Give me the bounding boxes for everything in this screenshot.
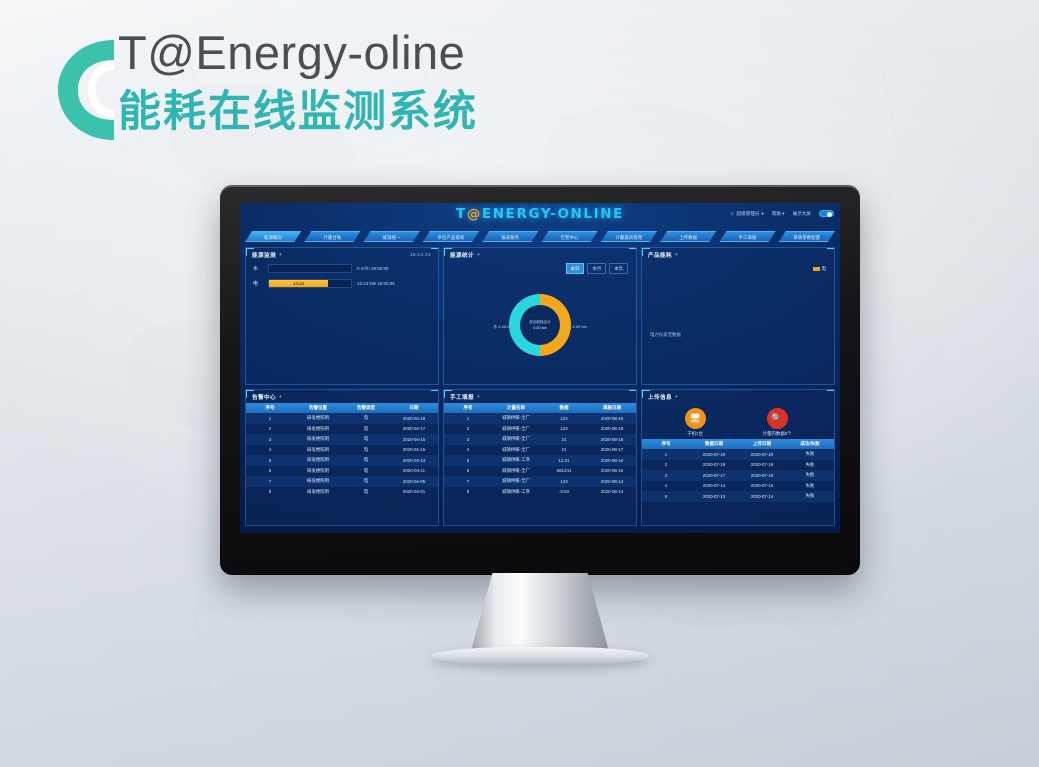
table-row[interactable]: 2研发楼照明电2020-04-17: [246, 424, 438, 435]
upload-stat-1[interactable]: 🔍计量内数据5个: [763, 408, 792, 437]
cell-2: 电: [342, 434, 390, 445]
cell-0: 6: [246, 466, 294, 477]
panel-title-text: 告警中心: [252, 393, 276, 401]
cell-0: 2: [444, 424, 492, 435]
nav-item-5[interactable]: 告警中心: [541, 231, 597, 242]
cell-3: 2020-08-18: [588, 434, 636, 445]
cell-2: 电: [342, 455, 390, 466]
cell-3: 2020-04-05: [390, 476, 438, 487]
cell-2: 21: [540, 434, 588, 445]
cell-0: 3: [642, 470, 690, 481]
cell-2: 电: [342, 424, 390, 435]
panel-title-text: 手工填报: [450, 393, 474, 401]
cell-2: 123: [540, 424, 588, 435]
column-header-2: 数据: [540, 403, 588, 413]
table-row[interactable]: 2城镇供暖-全厂1232020-08-18: [444, 424, 636, 435]
nav-item-0[interactable]: 能源概况: [245, 231, 301, 242]
cell-3: 失败: [786, 449, 834, 460]
cell-2: 电: [342, 487, 390, 498]
table-header-row: 序号数据日期上传日期成功/失败: [642, 439, 834, 449]
table-row[interactable]: 32020-07-172020-07-18失败: [642, 470, 834, 481]
panel-title-text: 产品能耗: [648, 251, 672, 259]
table-row[interactable]: 5研发楼照明电2020-04-14: [246, 455, 438, 466]
table-row[interactable]: 22020-07-182020-07-19失败: [642, 460, 834, 471]
cell-3: 2020-08-15: [588, 466, 636, 477]
nav-item-2[interactable]: 能源统一: [364, 231, 420, 242]
user-name: 超级管理员: [737, 211, 760, 217]
nav-item-1[interactable]: 计量台账: [304, 231, 360, 242]
cell-0: 1: [444, 413, 492, 424]
panel-alarm-center: 告警中心 + 序号告警位置告警类型日期 1研发楼照明电2020-04-182研发…: [245, 389, 439, 526]
cell-3: 失败: [786, 491, 834, 502]
page-title: T@Energy-oline: [118, 22, 478, 84]
dashboard-grid: 能源监测 + 18:14:23 水0 m³/h 18:00:00电13.2413…: [240, 242, 840, 531]
cell-2: 2020-07-15: [738, 481, 786, 492]
cell-0: 5: [444, 455, 492, 466]
dashboard-logo: T@ENERGY-ONLINE: [456, 206, 624, 222]
table-row[interactable]: 12020-07-192020-07-20失败: [642, 449, 834, 460]
expand-icon[interactable]: +: [477, 252, 480, 257]
column-header-3: 成功/失败: [786, 439, 834, 449]
cell-3: 2020-08-18: [588, 424, 636, 435]
cell-2: 电: [342, 413, 390, 424]
column-header-0: 序号: [642, 439, 690, 449]
metric-bar-track: [268, 264, 352, 273]
table-row[interactable]: 7研发楼照明电2020-04-05: [246, 476, 438, 487]
document-search-icon: 🔍: [767, 408, 788, 429]
cell-0: 7: [444, 476, 492, 487]
panel-energy-statistics: 能源统计 + 本日本月本年 水 0.00 tce 电 0.00 tce: [443, 247, 637, 385]
nav-item-4[interactable]: 报表服务: [482, 231, 538, 242]
cell-1: 研发楼照明: [294, 445, 342, 456]
cell-2: -0.53: [540, 487, 588, 498]
cell-2: 12.21: [540, 455, 588, 466]
cell-3: 2020-04-11: [390, 466, 438, 477]
column-header-1: 数据日期: [690, 439, 738, 449]
upload-table: 序号数据日期上传日期成功/失败 12020-07-192020-07-20失败2…: [642, 439, 834, 502]
column-header-2: 告警类型: [342, 403, 390, 413]
cell-1: 2020-07-17: [690, 470, 738, 481]
table-row[interactable]: 6城镇供暖-全厂5612412020-08-15: [444, 466, 636, 477]
cell-3: 失败: [786, 481, 834, 492]
expand-icon[interactable]: +: [675, 394, 678, 399]
metric-bar-fill: 13.24: [269, 280, 328, 287]
table-row[interactable]: 1研发楼照明电2020-04-18: [246, 413, 438, 424]
column-header-2: 上传日期: [738, 439, 786, 449]
realtime-row-0: 水0 m³/h 18:00:00: [246, 261, 438, 276]
cell-3: 2020-04-15: [390, 445, 438, 456]
cell-3: 2020-04-16: [390, 434, 438, 445]
panel-product-energy: 产品能耗 + 电 电力仪表无数据: [641, 247, 835, 385]
nav-item-8[interactable]: 手工填报: [719, 231, 775, 242]
cell-0: 7: [246, 476, 294, 487]
cell-3: 失败: [786, 470, 834, 481]
realtime-row-1: 电13.2413.24 kW 18:00:00: [246, 276, 438, 291]
expand-icon[interactable]: +: [279, 394, 282, 399]
bigscreen-toggle-label: 展示大屏: [793, 211, 811, 217]
table-row[interactable]: 5城镇供暖-工序12.212020-08-15: [444, 455, 636, 466]
upload-stat-caption: 干机1台: [685, 431, 706, 437]
brand-block: T@Energy-oline 能耗在线监测系统: [52, 22, 478, 140]
cell-1: 2020-07-13: [690, 491, 738, 502]
cell-3: 2020-04-17: [390, 424, 438, 435]
cell-1: 研发楼照明: [294, 455, 342, 466]
metric-meta: 13.24 kW 18:00:00: [357, 281, 431, 286]
donut-center: 综合能耗合计 0.00 tce: [520, 305, 560, 345]
table-row[interactable]: 3研发楼照明电2020-04-16: [246, 434, 438, 445]
table-row[interactable]: 8城镇供暖-工序-0.532020-08-14: [444, 487, 636, 498]
expand-icon[interactable]: +: [279, 252, 282, 257]
monitor-mockup: T@ENERGY-ONLINE ☺ 超级管理员 ▾ 帮助 ▾ 展示大屏 能源概况…: [220, 185, 860, 575]
cell-0: 4: [642, 481, 690, 492]
cell-1: 2020-07-18: [690, 460, 738, 471]
metric-label: 电: [253, 280, 263, 287]
cell-2: 2020-07-20: [738, 449, 786, 460]
table-row[interactable]: 7城镇供暖-全厂1232020-08-14: [444, 476, 636, 487]
table-row[interactable]: 42020-07-142020-07-15失败: [642, 481, 834, 492]
column-header-0: 序号: [246, 403, 294, 413]
cell-0: 2: [246, 424, 294, 435]
cell-2: 21: [540, 445, 588, 456]
metric-bar-track: 13.24: [268, 279, 352, 288]
panel-title: 上传信息 +: [642, 390, 834, 403]
cell-0: 5: [642, 491, 690, 502]
cell-0: 3: [444, 434, 492, 445]
cell-3: 2020-08-15: [588, 455, 636, 466]
panel-title-text: 能源监测: [252, 251, 276, 259]
table-row[interactable]: 52020-07-132020-07-14失败: [642, 491, 834, 502]
table-header-row: 序号告警位置告警类型日期: [246, 403, 438, 413]
cell-2: 2020-07-19: [738, 460, 786, 471]
manual-table: 序号计量名称数据填报日期 1城镇供暖-全厂1232020-08-192城镇供暖-…: [444, 403, 636, 497]
legend-label: 电: [822, 266, 826, 272]
upload-stat-icons: 🖥干机1台🔍计量内数据5个: [642, 403, 834, 439]
monitor-bezel: T@ENERGY-ONLINE ☺ 超级管理员 ▾ 帮助 ▾ 展示大屏 能源概况…: [220, 185, 860, 575]
bigscreen-toggle[interactable]: [819, 210, 834, 217]
cell-3: 2020-08-19: [588, 413, 636, 424]
terminal-icon: 🖥: [685, 408, 706, 429]
nav-item-6[interactable]: 计量器具管理: [601, 231, 657, 242]
panel-title: 告警中心 +: [246, 390, 438, 403]
cell-1: 2020-07-14: [690, 481, 738, 492]
table-row[interactable]: 3城镇供暖-全厂212020-08-18: [444, 434, 636, 445]
cell-3: 2020-04-14: [390, 455, 438, 466]
monitor-stand-base: [431, 647, 649, 665]
header-right-cluster: ☺ 超级管理员 ▾ 帮助 ▾ 展示大屏: [730, 210, 834, 217]
panel-title-text: 能源统计: [450, 251, 474, 259]
cell-0: 8: [246, 487, 294, 498]
column-header-1: 计量名称: [492, 403, 540, 413]
user-menu[interactable]: ☺ 超级管理员 ▾: [730, 211, 764, 217]
cell-3: 2020-04-18: [390, 413, 438, 424]
cell-2: 123: [540, 413, 588, 424]
cell-1: 城镇供暖-全厂: [492, 434, 540, 445]
panel-title-text: 上传信息: [648, 393, 672, 401]
cell-0: 3: [246, 434, 294, 445]
cell-1: 城镇供暖-全厂: [492, 424, 540, 435]
upload-stat-caption: 计量内数据5个: [763, 431, 792, 437]
cell-1: 城镇供暖-全厂: [492, 476, 540, 487]
expand-icon[interactable]: +: [477, 394, 480, 399]
monitor-stand-neck: [470, 573, 610, 655]
donut-center-label: 综合能耗合计: [529, 320, 551, 325]
empty-state-note: 电力仪表无数据: [650, 332, 681, 338]
cell-0: 5: [246, 455, 294, 466]
cell-1: 2020-07-19: [690, 449, 738, 460]
column-header-3: 日期: [390, 403, 438, 413]
cell-0: 4: [444, 445, 492, 456]
cell-1: 研发楼照明: [294, 487, 342, 498]
logo-at-icon: @: [467, 206, 482, 222]
cell-3: 2020-08-17: [588, 445, 636, 456]
page-subtitle: 能耗在线监测系统: [118, 84, 478, 140]
panel-title: 能源监测 + 18:14:23: [246, 248, 438, 261]
realtime-rows: 水0 m³/h 18:00:00电13.2413.24 kW 18:00:00: [246, 261, 438, 291]
cell-1: 城镇供暖-工序: [492, 487, 540, 498]
panel-manual-entry: 手工填报 + 序号计量名称数据填报日期 1城镇供暖-全厂1232020-08-1…: [443, 389, 637, 526]
clock-label: 18:14:23: [410, 252, 431, 257]
panel-upload-info: 上传信息 + 🖥干机1台🔍计量内数据5个 序号数据日期上传日期成功/失败 120…: [641, 389, 835, 526]
panel-title: 能源统计 +: [444, 248, 636, 261]
cell-1: 研发楼照明: [294, 424, 342, 435]
cell-2: 电: [342, 445, 390, 456]
column-header-3: 填报日期: [588, 403, 636, 413]
upload-stat-0[interactable]: 🖥干机1台: [685, 408, 706, 437]
panel-title: 产品能耗 +: [642, 248, 834, 261]
column-header-0: 序号: [444, 403, 492, 413]
cell-1: 城镇供暖-全厂: [492, 413, 540, 424]
logo-suffix: ENERGY-ONLINE: [482, 206, 624, 222]
cell-1: 研发楼照明: [294, 434, 342, 445]
legend-swatch-icon: [813, 267, 820, 271]
cell-1: 研发楼照明: [294, 476, 342, 487]
cell-0: 2: [642, 460, 690, 471]
table-row[interactable]: 8研发楼照明电2020-04-01: [246, 487, 438, 498]
nav-item-7[interactable]: 上传数据: [660, 231, 716, 242]
cell-2: 电: [342, 466, 390, 477]
expand-icon[interactable]: +: [675, 252, 678, 257]
panel-title: 手工填报 +: [444, 390, 636, 403]
table-header-row: 序号计量名称数据填报日期: [444, 403, 636, 413]
cell-3: 2020-08-14: [588, 487, 636, 498]
dashboard-header: T@ENERGY-ONLINE ☺ 超级管理员 ▾ 帮助 ▾ 展示大屏: [240, 203, 840, 229]
cell-0: 1: [246, 413, 294, 424]
donut-ring: 综合能耗合计 0.00 tce: [509, 294, 571, 356]
alarm-table: 序号告警位置告警类型日期 1研发楼照明电2020-04-182研发楼照明电202…: [246, 403, 438, 497]
chevron-down-icon: ▾: [762, 211, 764, 217]
table-row[interactable]: 6研发楼照明电2020-04-11: [246, 466, 438, 477]
main-navigation: 能源概况计量台账能源统一单位产品能耗报表服务告警中心计量器具管理上传数据手工填报…: [240, 231, 840, 242]
donut-chart: 水 0.00 tce 电 0.00 tce 综合能耗合计 0.00 tce: [444, 261, 636, 384]
cell-3: 失败: [786, 460, 834, 471]
nav-item-3[interactable]: 单位产品能耗: [423, 231, 479, 242]
user-icon: ☺: [730, 211, 735, 216]
c-logo-mark-icon: [52, 32, 118, 148]
logo-prefix: T: [456, 206, 467, 222]
cell-1: 城镇供暖-全厂: [492, 445, 540, 456]
cell-0: 8: [444, 487, 492, 498]
metric-label: 水: [253, 265, 263, 272]
help-menu[interactable]: 帮助 ▾: [772, 211, 785, 217]
table-row[interactable]: 4城镇供暖-全厂212020-08-17: [444, 445, 636, 456]
cell-2: 561241: [540, 466, 588, 477]
table-row[interactable]: 4研发楼照明电2020-04-15: [246, 445, 438, 456]
panel-realtime-monitoring: 能源监测 + 18:14:23 水0 m³/h 18:00:00电13.2413…: [245, 247, 439, 385]
cell-2: 电: [342, 476, 390, 487]
dashboard-screen: T@ENERGY-ONLINE ☺ 超级管理员 ▾ 帮助 ▾ 展示大屏 能源概况…: [240, 203, 840, 533]
cell-1: 城镇供暖-全厂: [492, 466, 540, 477]
cell-1: 城镇供暖-工序: [492, 455, 540, 466]
cell-2: 2020-07-14: [738, 491, 786, 502]
cell-2: 123: [540, 476, 588, 487]
donut-center-value: 0.00 tce: [533, 326, 547, 330]
cell-3: 2020-04-01: [390, 487, 438, 498]
cell-0: 6: [444, 466, 492, 477]
cell-0: 4: [246, 445, 294, 456]
nav-item-9[interactable]: 系统参数配置: [779, 231, 835, 242]
column-header-1: 告警位置: [294, 403, 342, 413]
cell-2: 2020-07-18: [738, 470, 786, 481]
table-row[interactable]: 1城镇供暖-全厂1232020-08-19: [444, 413, 636, 424]
cell-1: 研发楼照明: [294, 466, 342, 477]
cell-1: 研发楼照明: [294, 413, 342, 424]
metric-meta: 0 m³/h 18:00:00: [357, 266, 431, 271]
chart-legend: 电: [813, 266, 826, 272]
cell-3: 2020-08-14: [588, 476, 636, 487]
cell-0: 1: [642, 449, 690, 460]
